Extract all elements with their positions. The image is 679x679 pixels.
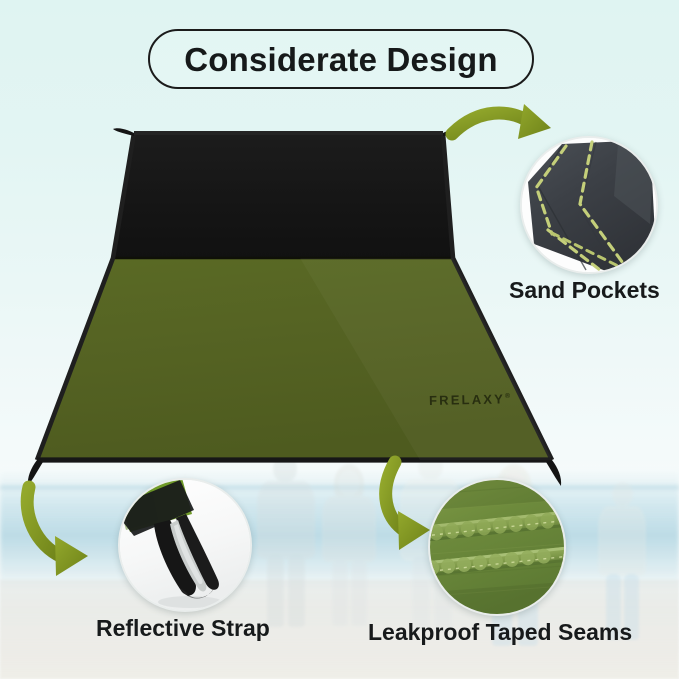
brand-logo: FRELAXY® bbox=[429, 391, 521, 409]
caption-reflective-strap: Reflective Strap bbox=[96, 617, 270, 640]
reflective-strap-photo bbox=[120, 480, 250, 610]
page-title: Considerate Design bbox=[184, 43, 498, 76]
background-person-1 bbox=[255, 455, 317, 625]
caption-taped-seams: Leakproof Taped Seams bbox=[368, 621, 632, 644]
background-person-2 bbox=[320, 468, 378, 628]
headline-badge: Considerate Design bbox=[148, 29, 534, 89]
caption-sand-pockets: Sand Pockets bbox=[509, 279, 660, 302]
inset-taped-seams bbox=[428, 478, 566, 616]
product-feature-graphic: Considerate Design FRELAXY® bbox=[0, 0, 679, 679]
brand-trademark: ® bbox=[505, 393, 510, 400]
brand-name: FRELAXY bbox=[429, 391, 505, 408]
sand-pocket-photo bbox=[522, 138, 656, 272]
background-person-5 bbox=[596, 482, 648, 642]
inset-sand-pockets bbox=[520, 136, 658, 274]
taped-seams-photo bbox=[430, 480, 564, 614]
inset-reflective-strap bbox=[118, 478, 252, 612]
